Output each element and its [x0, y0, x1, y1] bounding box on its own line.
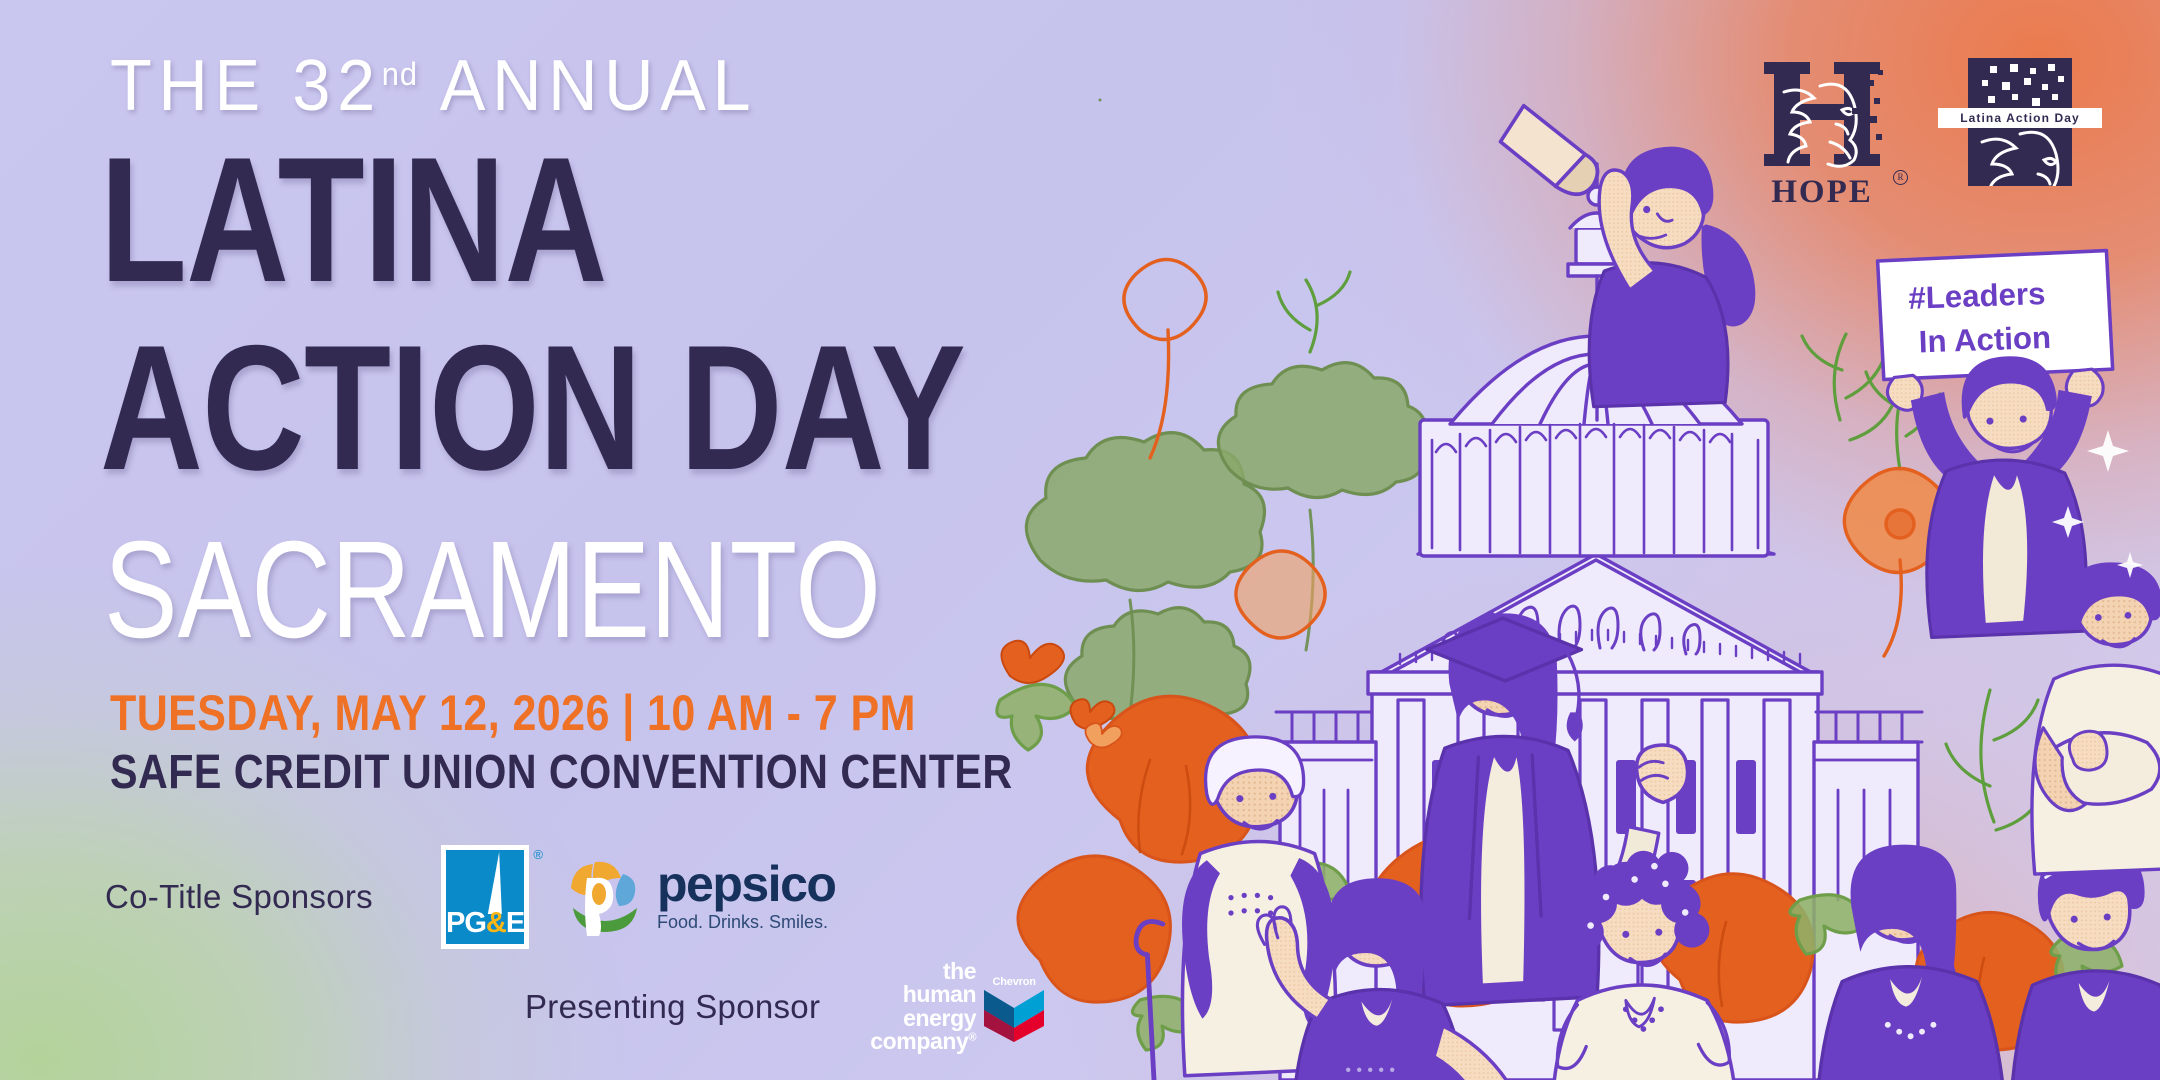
pepsico-name: pepsico [657, 861, 835, 909]
chevron-wordmark: the human energy company® [870, 960, 976, 1054]
hope-registered-mark: R [1893, 170, 1908, 185]
pepsico-tagline: Food. Drinks. Smiles. [657, 912, 835, 933]
pepsico-wordmark: pepsico Food. Drinks. Smiles. [657, 861, 835, 933]
event-banner: #Leaders In Action [0, 0, 2160, 1080]
chevron-line-2: human [870, 983, 976, 1006]
pge-registered-mark: ® [533, 847, 543, 862]
pge-wordmark: PG&E [446, 909, 524, 938]
kicker-suffix: ANNUAL [418, 46, 757, 126]
kicker-line: THE 32nd ANNUAL [110, 50, 757, 122]
pge-prefix: PG [446, 907, 486, 939]
pge-spark-icon [488, 852, 506, 914]
title-line-city: SACRAMENTO [104, 528, 881, 652]
chevron-line-4: company [870, 1028, 968, 1054]
chevron-mark-icon: Chevron [982, 972, 1046, 1042]
pge-logo[interactable]: PG&E ® [441, 845, 529, 949]
protest-sign-line2: In Action [1918, 320, 2051, 360]
event-date-time: TUESDAY, MAY 12, 2026 | 10 AM - 7 PM [110, 684, 916, 742]
hope-logo[interactable]: HOPE R [1758, 58, 1886, 211]
protest-sign-line1: #Leaders [1908, 276, 2046, 316]
chevron-logo[interactable]: the human energy company® Chevron [870, 960, 1046, 1054]
kicker-prefix: THE 32 [110, 46, 382, 126]
latina-action-day-bar-label: Latina Action Day [1938, 108, 2102, 128]
event-venue: SAFE CREDIT UNION CONVENTION CENTER [110, 745, 1013, 800]
title-line-latina: LATINA [100, 142, 607, 299]
kicker-ordinal: nd [382, 56, 418, 92]
presenting-sponsor-row: Presenting Sponsor the human energy comp… [525, 960, 1046, 1054]
chevron-line-1: the [870, 960, 976, 983]
organization-logos: HOPE R [1758, 58, 2072, 211]
headline-block: THE 32nd ANNUAL LATINA ACTION DAY SACRAM… [0, 0, 1120, 1080]
hope-wordmark: HOPE [1758, 174, 1886, 211]
pge-suffix: E [506, 907, 524, 939]
cotitle-sponsors-row: Co-Title Sponsors PG&E ® [105, 845, 835, 949]
pepsico-mark-icon [565, 858, 643, 936]
pge-ampersand: & [486, 907, 506, 939]
chevron-mark-label: Chevron [993, 976, 1036, 988]
title-line-action-day: ACTION DAY [100, 330, 965, 487]
presenting-sponsor-label: Presenting Sponsor [525, 988, 820, 1026]
cotitle-sponsors-label: Co-Title Sponsors [105, 878, 373, 916]
pge-logo-box: PG&E [446, 850, 524, 944]
chevron-line-3: energy [870, 1007, 976, 1030]
latina-action-day-logo[interactable]: Latina Action Day [1968, 58, 2072, 186]
hope-h-face-icon [1758, 58, 1886, 170]
pepsico-logo[interactable]: pepsico Food. Drinks. Smiles. [565, 858, 835, 936]
chevron-registered-mark: ® [968, 1032, 976, 1044]
